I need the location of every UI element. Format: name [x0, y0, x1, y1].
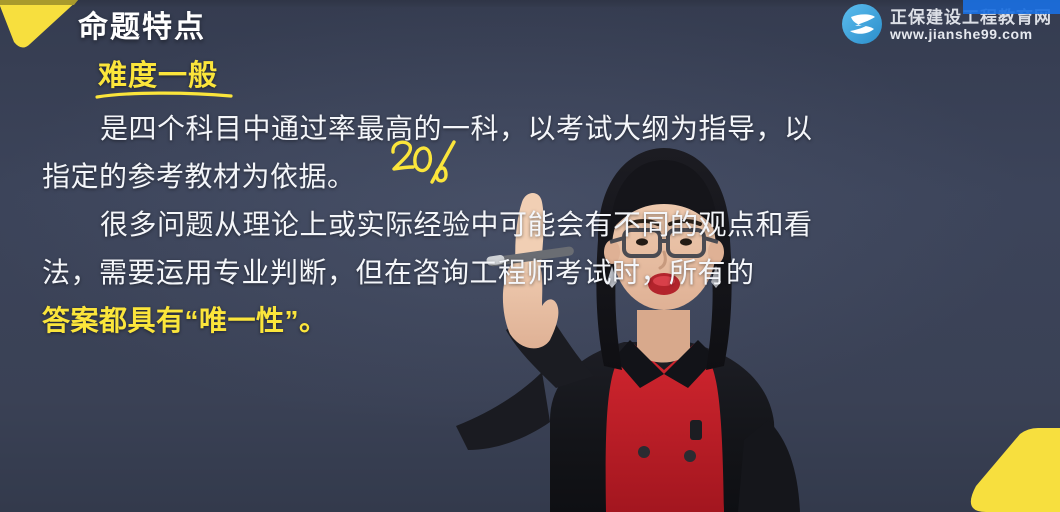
- corner-blob-decoration: [968, 428, 1060, 512]
- subheading-underline: [94, 90, 234, 102]
- video-lecture-frame: 命题特点 正保建设工程教育网 www.jianshe99.com: [0, 0, 1060, 512]
- slide-line-3: 很多问题从理论上或实际经验中可能会有不同的观点和看: [100, 203, 813, 243]
- brand-website: www.jianshe99.com: [890, 27, 1052, 42]
- jianshe-logo-icon: [840, 2, 884, 46]
- slide-subheading: 难度一般: [98, 52, 218, 94]
- slide-line-4: 法，需要运用专业判断，但在咨询工程师考试时，所有的: [42, 251, 755, 291]
- page-title: 命题特点: [78, 2, 206, 46]
- selection-highlight[interactable]: [963, 0, 1060, 14]
- slide-line-2: 指定的参考教材为依据。: [42, 155, 356, 195]
- slide-line-5: 答案都具有“唯一性”。: [42, 299, 328, 339]
- handwritten-annotation-icon: [386, 134, 472, 188]
- corner-triangle-decoration: [0, 0, 78, 52]
